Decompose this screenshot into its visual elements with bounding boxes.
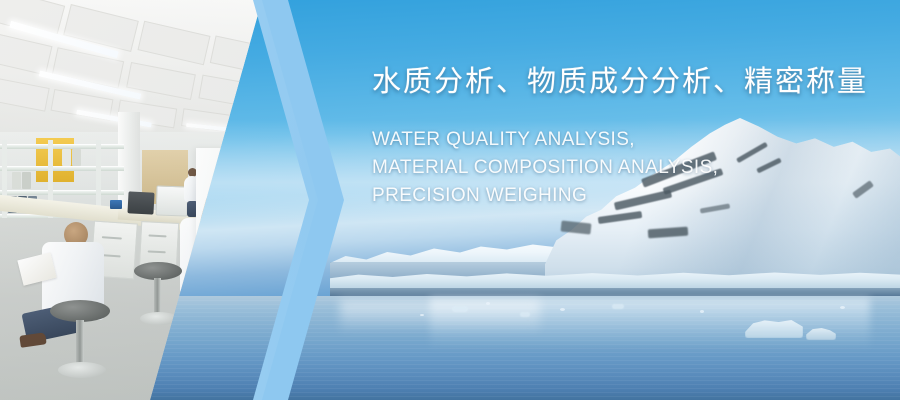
subtitle-line-1: WATER QUALITY ANALYSIS, <box>372 126 892 154</box>
stool-seat <box>50 300 110 322</box>
ice-floe <box>452 306 468 312</box>
subtitle-block: WATER QUALITY ANALYSIS, MATERIAL COMPOSI… <box>372 126 892 210</box>
binder <box>12 172 21 189</box>
ceiling-tile <box>137 21 210 66</box>
ice-speck <box>560 308 565 311</box>
ice-speck <box>486 302 490 305</box>
stool-post <box>76 320 84 366</box>
reagent-box <box>110 200 122 209</box>
rock-outcrop <box>561 220 592 234</box>
subtitle-line-3: PRECISION WEIGHING <box>372 182 892 210</box>
shelf <box>0 190 124 195</box>
binder <box>72 149 81 166</box>
stool-post <box>154 278 161 316</box>
computer-monitor <box>127 191 154 214</box>
ice-speck <box>700 310 704 313</box>
binder <box>62 149 71 166</box>
ice-floe <box>612 304 624 309</box>
lab-stool <box>50 300 114 382</box>
ice-floe <box>520 312 530 317</box>
cabinet-handle <box>148 250 166 253</box>
subtitle-line-2: MATERIAL COMPOSITION ANALYSIS, <box>372 154 892 182</box>
shoe <box>19 332 46 348</box>
ice-speck <box>840 306 845 309</box>
stool-base <box>58 362 106 378</box>
lab-services-hero-banner: 水质分析、物质成分分析、精密称量 WATER QUALITY ANALYSIS,… <box>0 0 900 400</box>
ceiling-tile <box>0 76 50 111</box>
shelf <box>0 166 124 171</box>
cabinet-handle <box>148 234 166 237</box>
ice-speck <box>420 314 424 316</box>
headline-chinese: 水质分析、物质成分分析、精密称量 <box>372 64 892 98</box>
binder <box>22 172 31 189</box>
banner-copy: 水质分析、物质成分分析、精密称量 WATER QUALITY ANALYSIS,… <box>372 64 892 210</box>
